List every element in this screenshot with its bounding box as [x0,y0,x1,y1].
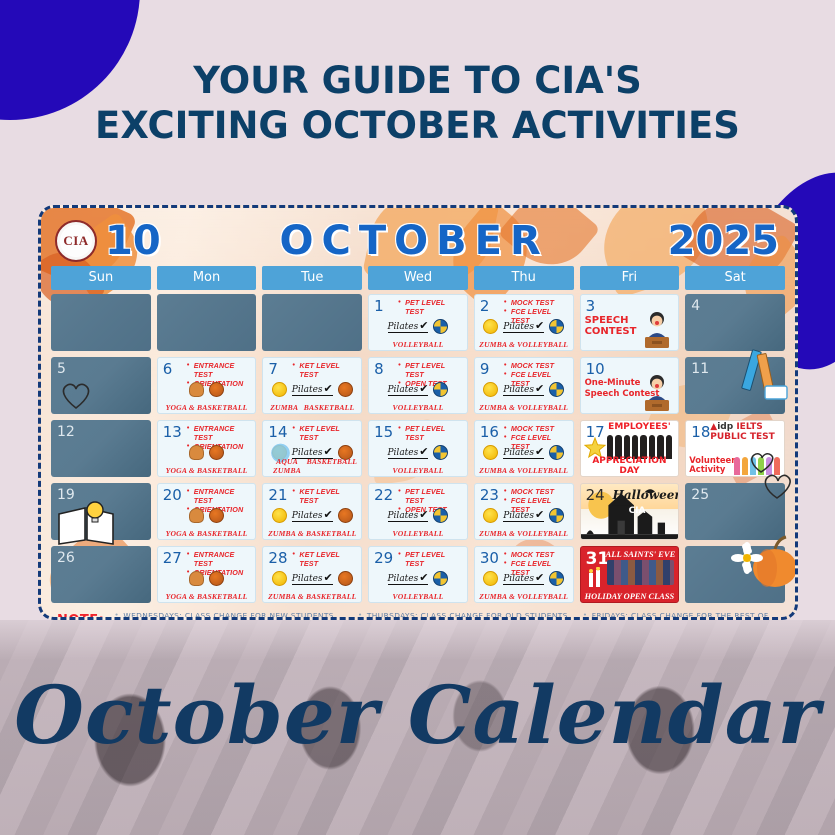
employees-day-label: APPRECIATION DAY [583,456,677,476]
zumba-icon [272,508,287,523]
halloween-cia-label: CIA [629,506,646,516]
activity-label-part: BASKETBALL [304,403,355,412]
day-number: 9 [480,360,490,378]
holiday-open-class-label: HOLIDAY OPEN CLASS [581,592,679,601]
basketball-icon [209,382,224,397]
test-list: KET LEVEL TEST [292,424,358,442]
day-number: 4 [691,298,700,314]
weekday-header-sun: Sun [51,266,151,290]
activity-label: ZUMBABASKETBALL [263,403,361,412]
activity-label: YOGA & BASKETBALL [158,529,256,538]
day-cell-4[interactable]: 4 [685,294,785,351]
activity-label-part: YOGA & BASKETBALL [166,529,248,538]
activity-icons: Pilates [369,568,467,588]
page-title: YOUR GUIDE TO CIA'S EXCITING OCTOBER ACT… [0,58,835,148]
year-label: 2025 [668,218,779,264]
activity-label-part: YOGA & BASKETBALL [166,403,248,412]
title-line-2: EXCITING OCTOBER ACTIVITIES [0,103,835,148]
activity-icons [158,442,256,462]
test-item: ENTRANCE TEST [187,487,253,505]
activity-label-part: VOLLEYBALL [393,592,444,601]
weekday-header-fri: Fri [580,266,680,290]
day-cell-10[interactable]: 10One-MinuteSpeech Contest [580,357,680,414]
cia-logo-seal: CIA [55,220,97,262]
raised-hands-icon [734,457,780,475]
activity-label: VOLLEYBALL [369,403,467,412]
idp-brand: idp [717,422,733,432]
zumba-icon [483,382,498,397]
day-number: 29 [374,549,393,567]
day-number: 16 [480,423,499,441]
activity-icons: Pilates [475,379,573,399]
day-number: 8 [374,360,384,378]
activity-label: ZUMBA & VOLLEYBALL [475,529,573,538]
volleyball-icon [433,571,448,586]
activity-icons: Pilates [263,379,361,399]
pilates-icon: Pilates [292,571,333,585]
weekday-header-thu: Thu [474,266,574,290]
basketball-icon [209,571,224,586]
day-cell-16[interactable]: 16MOCK TESTFCE LEVEL TESTPilatesZUMBA & … [474,420,574,477]
day-number: 10 [586,360,605,378]
test-item: KET LEVEL TEST [292,424,358,442]
activity-label-part: ZUMBA & VOLLEYBALL [479,466,568,475]
note-label: NOTE: [57,611,104,620]
volunteer-activity-label: VolunteerActivity [689,456,735,474]
day-number: 26 [57,550,75,566]
activity-label: VOLLEYBALL [369,466,467,475]
notes-row: NOTE: WEDNESDAYS: CLASS CHANGE FOR NEW S… [57,611,779,620]
activity-label-part: VOLLEYBALL [393,340,444,349]
day-cell-28[interactable]: 28KET LEVEL TESTPilatesZUMBA & BASKETBAL… [262,546,362,603]
title-line-1: YOUR GUIDE TO CIA'S [0,58,835,103]
notes-section: NOTE: WEDNESDAYS: CLASS CHANGE FOR NEW S… [51,608,785,620]
day-cell-3[interactable]: 3SPEECHCONTEST [580,294,680,351]
day-number: 30 [480,549,499,567]
activity-label: AQUA ZUMBABASKETBALL [263,457,361,475]
day-cell-24[interactable]: 24HalloweenCIA [580,483,680,540]
activity-icons: Pilates [475,505,573,525]
day-cell-25[interactable]: 25 [685,483,785,540]
yoga-icon [189,382,204,397]
day-cell-27[interactable]: 27ENTRANCE TESTORIENTATIONYOGA & BASKETB… [157,546,257,603]
employees-day-title: EMPLOYEES' [603,422,677,432]
volleyball-icon [433,445,448,460]
activity-label: ZUMBA & VOLLEYBALL [475,466,573,475]
pilates-icon: Pilates [388,571,429,585]
activity-label-part: ZUMBA & VOLLEYBALL [479,340,568,349]
day-cell-23[interactable]: 23MOCK TESTFCE LEVEL TESTPilatesZUMBA & … [474,483,574,540]
day-cell-12[interactable]: 12 [51,420,151,477]
basketball-icon [338,382,353,397]
zumba-icon [483,508,498,523]
weekday-header-sat: Sat [685,266,785,290]
calendar-card: CIA 10 OCTOBER 2025 SunMonTueWedThuFriSa… [38,205,798,620]
day-cell-blank [157,294,257,351]
basketball-icon [338,508,353,523]
pilates-icon: Pilates [388,382,429,396]
day-cell-29[interactable]: 29PET LEVEL TESTPilatesVOLLEYBALL [368,546,468,603]
activity-label-part: VOLLEYBALL [393,466,444,475]
activity-icons: Pilates [475,316,573,336]
test-item: MOCK TEST [504,298,570,307]
day-cell-22[interactable]: 22PET LEVEL TESTOPEN TESTPilatesVOLLEYBA… [368,483,468,540]
day-cell-30[interactable]: 30MOCK TESTFCE LEVEL TESTPilatesZUMBA & … [474,546,574,603]
day-number: 6 [163,360,173,378]
activity-icons: Pilates [263,568,361,588]
pilates-icon: Pilates [503,382,544,396]
basketball-icon [338,571,353,586]
test-item: MOCK TEST [504,361,570,370]
weekday-header-mon: Mon [157,266,257,290]
activity-label-part: ZUMBA & VOLLEYBALL [479,592,568,601]
volleyball-icon [433,319,448,334]
test-item: MOCK TEST [504,550,570,559]
day-cell-15[interactable]: 15PET LEVEL TESTPilatesVOLLEYBALL [368,420,468,477]
test-item: MOCK TEST [504,424,570,433]
pilates-icon: Pilates [503,445,544,459]
month-name: OCTOBER [161,218,668,264]
day-cell-blank [51,294,151,351]
activity-label: VOLLEYBALL [369,529,467,538]
day-number: 23 [480,486,499,504]
day-number: 5 [57,361,66,377]
activity-label: YOGA & BASKETBALL [158,403,256,412]
test-list: KET LEVEL TEST [292,361,358,379]
zumba-icon [483,319,498,334]
day-number: 3 [586,297,596,315]
activity-label: YOGA & BASKETBALL [158,466,256,475]
day-number: 25 [691,487,709,503]
activity-icons: Pilates [263,505,361,525]
activity-label-part: YOGA & BASKETBALL [166,592,248,601]
day-number: 20 [163,486,182,504]
zumba-icon [483,445,498,460]
volleyball-icon [433,382,448,397]
test-item: KET LEVEL TEST [292,487,358,505]
test-item: KET LEVEL TEST [292,550,358,568]
day-cell-17[interactable]: 17EMPLOYEES'APPRECIATION DAY [580,420,680,477]
test-item: PET LEVEL TEST [398,550,464,568]
day-cell-14[interactable]: 14KET LEVEL TESTPilatesAQUA ZUMBABASKETB… [262,420,362,477]
day-cell-21[interactable]: 21KET LEVEL TESTPilatesZUMBA & BASKETBAL… [262,483,362,540]
day-cell-9[interactable]: 9MOCK TESTFCE LEVEL TESTPilatesZUMBA & V… [474,357,574,414]
activity-icons: Pilates [369,379,467,399]
pilates-icon: Pilates [503,319,544,333]
halloween-title: Halloween [613,488,680,502]
day-cell-2[interactable]: 2MOCK TESTFCE LEVEL TESTPilatesZUMBA & V… [474,294,574,351]
day-number: 22 [374,486,393,504]
script-footer-title: October Calendar [0,668,835,762]
all-saints-eve-title: ALL SAINTS' EVE [605,549,677,559]
day-number: 13 [163,423,182,441]
activity-icons: Pilates [369,505,467,525]
day-cell-20[interactable]: 20ENTRANCE TESTORIENTATIONYOGA & BASKETB… [157,483,257,540]
test-list: KET LEVEL TEST [292,550,358,568]
activity-icons: Pilates [475,568,573,588]
activity-label-part: BASKETBALL [307,457,358,475]
day-number: 2 [480,297,490,315]
day-cell-blank [262,294,362,351]
day-number: 15 [374,423,393,441]
day-number: 1 [374,297,384,315]
activity-label: VOLLEYBALL [369,340,467,349]
test-item: PET LEVEL TEST [398,487,464,505]
zumba-icon [272,382,287,397]
weekday-header-tue: Tue [262,266,362,290]
activity-label: ZUMBA & VOLLEYBALL [475,592,573,601]
volleyball-icon [549,445,564,460]
activity-label-part: VOLLEYBALL [393,403,444,412]
pilates-icon: Pilates [503,508,544,522]
day-number: 27 [163,549,182,567]
yoga-icon [189,571,204,586]
day-cell-19[interactable]: 19 [51,483,151,540]
test-list: PET LEVEL TEST [398,424,464,442]
month-number: 10 [105,218,161,264]
day-number: 28 [268,549,287,567]
zumba-icon [483,571,498,586]
test-item: ENTRANCE TEST [187,361,253,379]
activity-label-part: VOLLEYBALL [393,529,444,538]
day-cell-13[interactable]: 13ENTRANCE TESTORIENTATIONYOGA & BASKETB… [157,420,257,477]
test-item: PET LEVEL TEST [398,298,464,316]
activity-icons: Pilates [475,442,573,462]
volleyball-icon [549,508,564,523]
activity-icons [158,568,256,588]
pilates-icon: Pilates [388,508,429,522]
calendar-day-grid: 1PET LEVEL TESTPilatesVOLLEYBALL2MOCK TE… [51,294,785,603]
pilates-icon: Pilates [388,319,429,333]
speech-contest-label: SPEECHCONTEST [585,315,637,337]
day-cell-26[interactable]: 26 [51,546,151,603]
day-cell-18[interactable]: 18▲idp IELTS PUBLIC TESTVolunteerActivit… [685,420,785,477]
volleyball-icon [549,382,564,397]
test-item: PET LEVEL TEST [398,361,464,379]
pilates-icon: Pilates [503,571,544,585]
calendar-header: CIA 10 OCTOBER 2025 [51,216,785,266]
activity-label-part: ZUMBA & BASKETBALL [268,592,356,601]
day-cell-31[interactable]: 31ALL SAINTS' EVEHOLIDAY OPEN CLASS [580,546,680,603]
activity-label: ZUMBA & BASKETBALL [263,529,361,538]
day-cell-6[interactable]: 6ENTRANCE TESTORIENTATIONYOGA & BASKETBA… [157,357,257,414]
day-number: 21 [268,486,287,504]
activity-label: ZUMBA & VOLLEYBALL [475,340,573,349]
activity-label: VOLLEYBALL [369,592,467,601]
activity-label: YOGA & BASKETBALL [158,592,256,601]
weekday-header-wed: Wed [368,266,468,290]
activity-icons: Pilates [369,316,467,336]
day-number: 18 [691,423,710,441]
day-cell-8[interactable]: 8PET LEVEL TESTOPEN TESTPilatesVOLLEYBAL… [368,357,468,414]
volleyball-icon [433,508,448,523]
basketball-icon [209,508,224,523]
test-item: KET LEVEL TEST [292,361,358,379]
activity-label-part: ZUMBA & VOLLEYBALL [479,529,568,538]
basketball-icon [209,445,224,460]
activity-label-part: AQUA ZUMBA [267,457,306,475]
speaker-podium-icon [640,373,674,411]
day-number: 11 [691,361,709,377]
activity-icons: Pilates [369,442,467,462]
pilates-icon: Pilates [292,508,333,522]
pilates-icon: Pilates [292,382,333,396]
yoga-icon [189,508,204,523]
test-item: MOCK TEST [504,487,570,496]
activity-label-part: ZUMBA [270,403,298,412]
zumba-icon [272,571,287,586]
day-cell-11[interactable]: 11 [685,357,785,414]
activity-label-part: YOGA & BASKETBALL [166,466,248,475]
candles-icon [586,567,604,587]
test-item: ENTRANCE TEST [187,424,253,442]
activity-label-part: ZUMBA & VOLLEYBALL [479,403,568,412]
activity-icons [158,505,256,525]
day-cell-5[interactable]: 5 [51,357,151,414]
saints-figures-illustration [607,560,675,585]
yoga-icon [189,445,204,460]
day-cell-7[interactable]: 7KET LEVEL TESTPilatesZUMBABASKETBALL [262,357,362,414]
test-list: KET LEVEL TEST [292,487,358,505]
note-fridays: FRIDAYS: CLASS CHANGE FOR THE REST OF OL… [583,611,779,620]
day-number: 12 [57,424,75,440]
day-number: 19 [57,487,75,503]
test-item: PET LEVEL TEST [398,424,464,442]
activity-label-part: ZUMBA & BASKETBALL [268,529,356,538]
activity-label: ZUMBA & VOLLEYBALL [475,403,573,412]
test-list: PET LEVEL TEST [398,550,464,568]
test-list: PET LEVEL TEST [398,298,464,316]
note-thursdays: THURSDAYS: CLASS CHANGE FOR OLD STUDENTS… [358,611,573,620]
note-wednesdays: WEDNESDAYS: CLASS CHANGE FOR NEW STUDENT… [114,611,348,620]
test-item: ENTRANCE TEST [187,550,253,568]
activity-icons [158,379,256,399]
pilates-icon: Pilates [388,445,429,459]
day-number: 24 [586,486,605,504]
day-number: 7 [268,360,278,378]
ielts-public-test-title: ▲idp IELTS PUBLIC TEST [710,422,782,442]
weekday-header-row: SunMonTueWedThuFriSat [51,266,785,290]
day-number: 14 [268,423,287,441]
volleyball-icon [549,571,564,586]
activity-label: ZUMBA & BASKETBALL [263,592,361,601]
volleyball-icon [549,319,564,334]
day-cell-1[interactable]: 1PET LEVEL TESTPilatesVOLLEYBALL [368,294,468,351]
day-cell-blank [685,546,785,603]
speaker-podium-icon [640,310,674,348]
